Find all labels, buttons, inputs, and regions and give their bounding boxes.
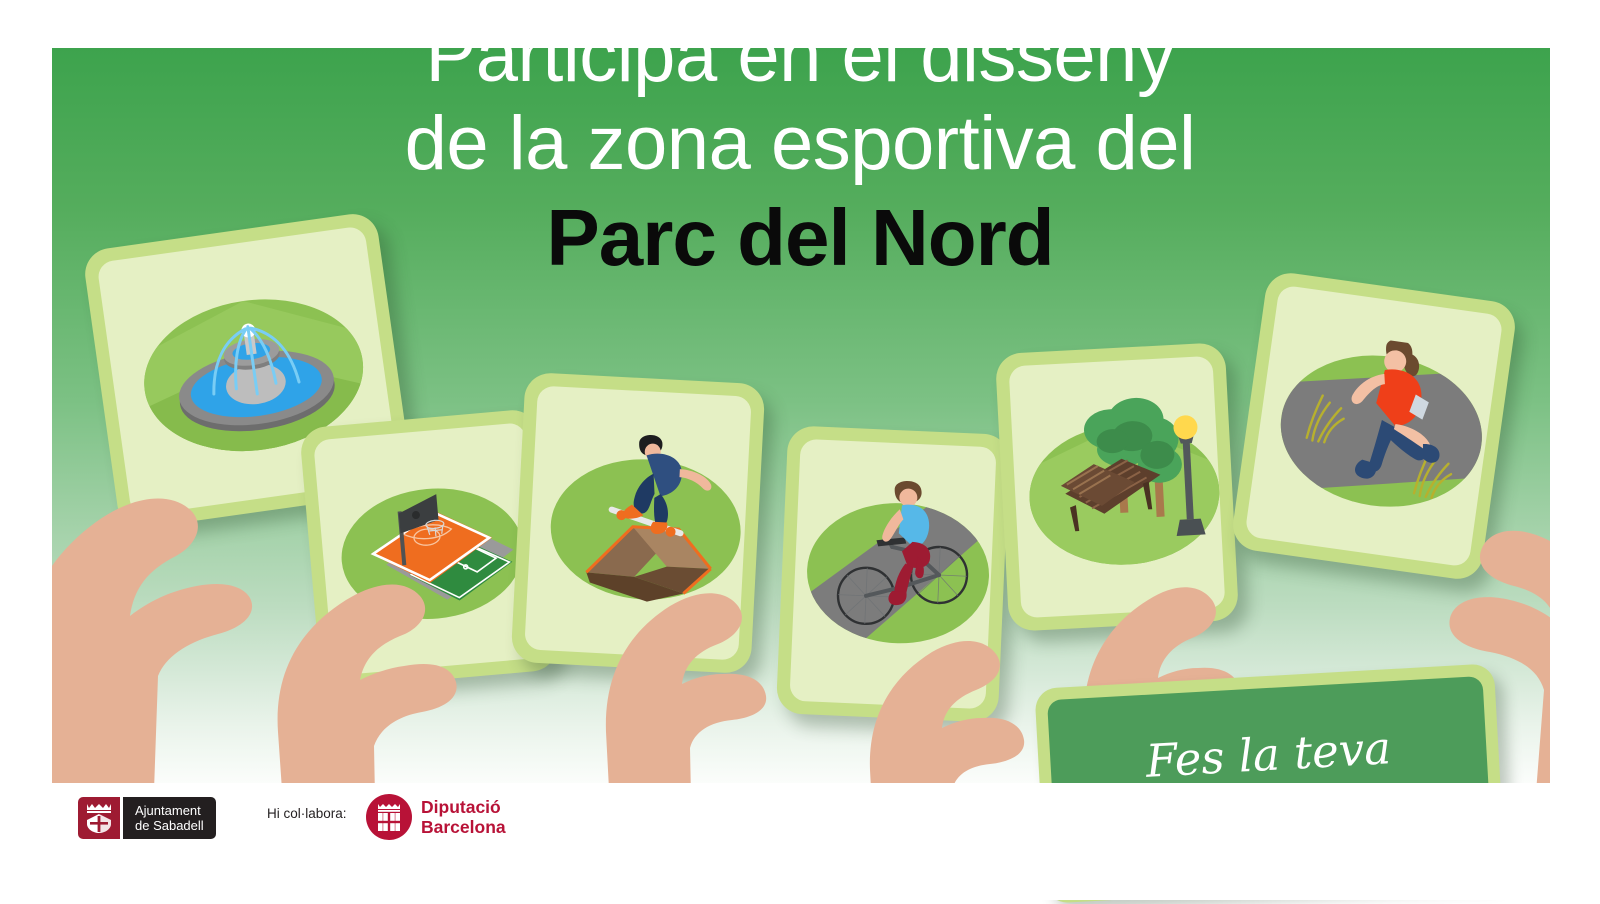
sabadell-crest-icon [78, 797, 120, 839]
logo-diputacio-barcelona[interactable]: Diputació Barcelona [366, 794, 506, 840]
hand-middle [552, 516, 802, 783]
hand-left-inner [230, 518, 520, 783]
cta-line-1: Fes la teva [1144, 721, 1392, 788]
diputacio-line-2: Barcelona [421, 817, 506, 837]
crest-shield-icon [84, 802, 114, 834]
sabadell-wordmark: Ajuntament de Sabadell [123, 797, 216, 839]
logo-ajuntament-sabadell[interactable]: Ajuntament de Sabadell [78, 797, 216, 839]
sabadell-line-1: Ajuntament [135, 803, 204, 818]
sabadell-line-2: de Sabadell [135, 818, 204, 833]
diputacio-line-1: Diputació [421, 797, 506, 817]
footer-logos: Ajuntament de Sabadell Hi col·labora: Di… [0, 783, 1600, 900]
hand-icon [230, 518, 520, 783]
crest-tower-icon [374, 801, 404, 833]
hand-icon [814, 560, 1064, 783]
hand-right-inner [814, 560, 1064, 783]
collaborates-label: Hi col·labora: [267, 806, 347, 821]
banner-root: Participa en el disseny de la zona espor… [0, 0, 1600, 900]
diputacio-crest-icon [366, 794, 412, 840]
diputacio-wordmark: Diputació Barcelona [421, 797, 506, 837]
hand-icon [552, 516, 802, 783]
